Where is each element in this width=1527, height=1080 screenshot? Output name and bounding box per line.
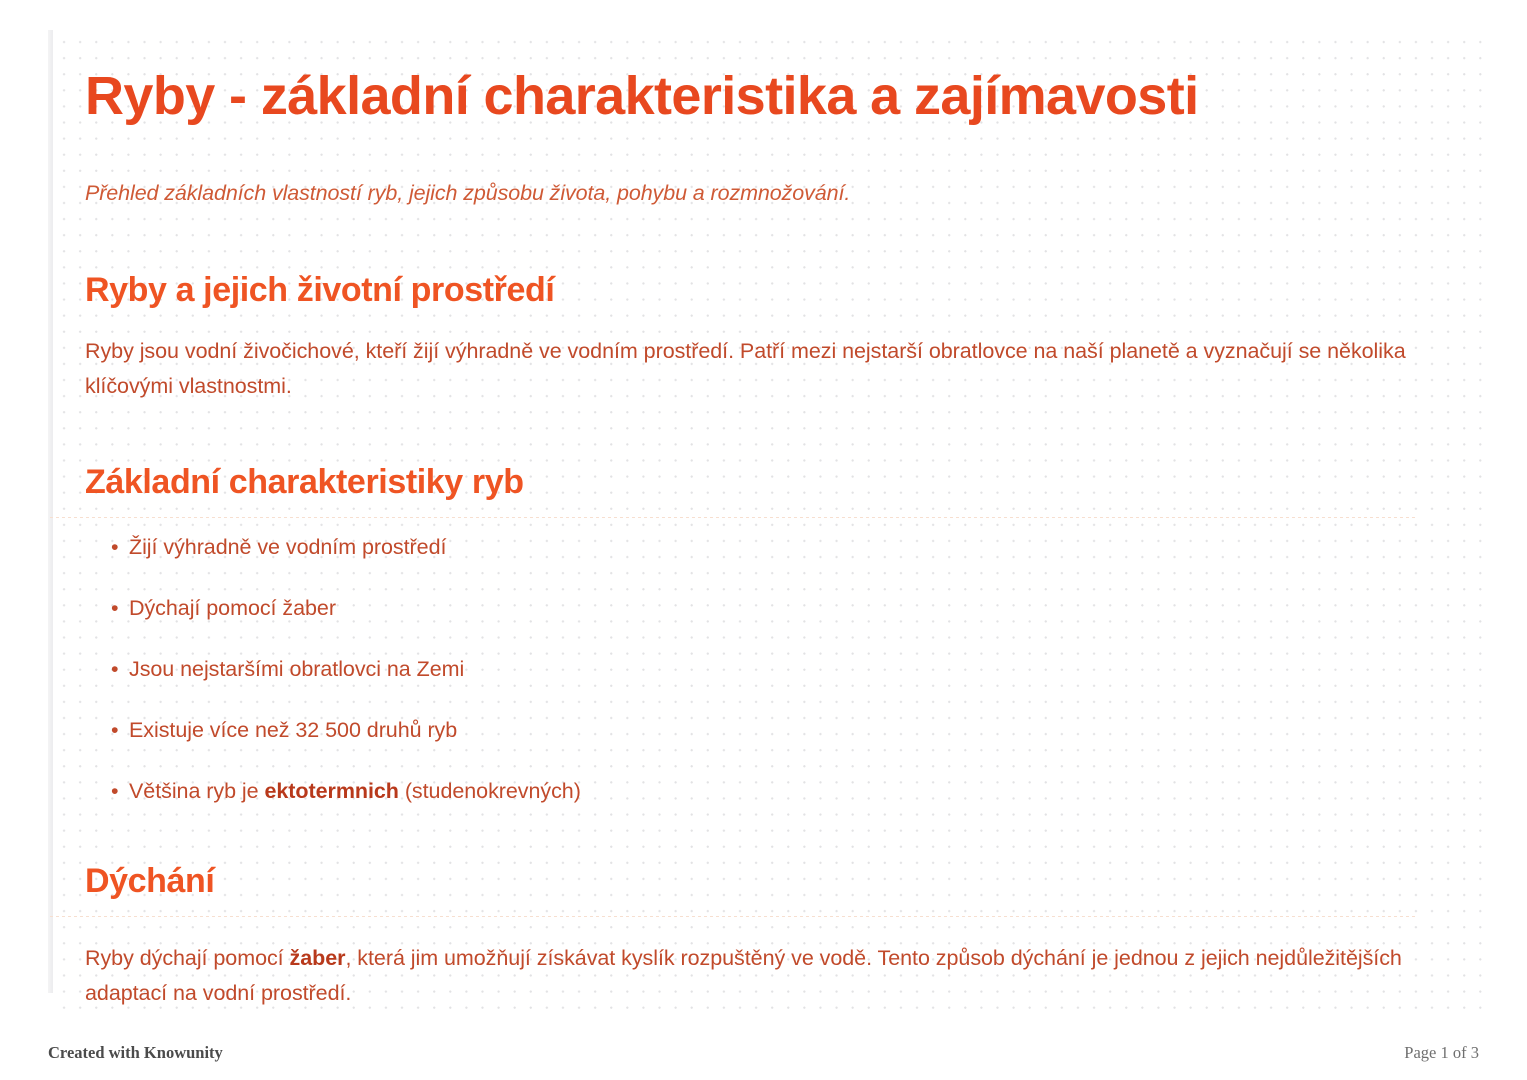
section-paragraph-environment: Ryby jsou vodní živočichové, kteří žijí … [85, 310, 1460, 404]
list-item: • Žijí výhradně ve vodním prostředí [85, 532, 1481, 562]
bullet-marker-icon: • [111, 654, 118, 684]
document-subtitle: Přehled základních vlastností ryb, jejic… [85, 128, 1481, 208]
bullet-marker-icon: • [111, 715, 118, 745]
bullet-marker-icon: • [111, 593, 118, 623]
list-item: • Jsou nejstaršími obratlovci na Zemi [85, 654, 1481, 684]
footer-page-number: Page 1 of 3 [1404, 1043, 1479, 1063]
characteristics-list: • Žijí výhradně ve vodním prostředí • Dý… [85, 518, 1481, 806]
footer-credit: Created with Knowunity [48, 1043, 223, 1063]
page-footer: Created with Knowunity Page 1 of 3 [0, 1035, 1527, 1080]
section-heading-breathing: Dýchání [85, 806, 1481, 902]
list-item-label: Existuje více než 32 500 druhů ryb [129, 718, 457, 742]
section-heading-characteristics: Základní charakteristiky ryb [85, 404, 1481, 503]
list-item: • Většina ryb je ektotermnich (studenokr… [85, 776, 1481, 806]
list-item-label-prefix: Většina ryb je [129, 779, 264, 803]
bullet-marker-icon: • [111, 532, 118, 562]
section-paragraph-breathing: Ryby dýchají pomocí žaber, která jim umo… [85, 917, 1460, 1011]
section-heading-environment: Ryby a jejich životní prostředí [85, 208, 1481, 311]
bullet-marker-icon: • [111, 776, 118, 806]
list-item: • Dýchají pomocí žaber [85, 593, 1481, 623]
section-breathing: Dýchání Ryby dýchají pomocí žaber, která… [85, 806, 1481, 1010]
document-content: Ryby - základní charakteristika a zajíma… [85, 0, 1481, 1010]
list-item-label: Jsou nejstaršími obratlovci na Zemi [129, 657, 464, 681]
paragraph-prefix: Ryby dýchají pomocí [85, 946, 290, 970]
page-title: Ryby - základní charakteristika a zajíma… [85, 0, 1481, 128]
document-page: Ryby - základní charakteristika a zajíma… [0, 0, 1527, 1080]
list-item-label-emphasis: ektotermnich [264, 779, 398, 803]
list-item: • Existuje více než 32 500 druhů ryb [85, 715, 1481, 745]
paragraph-emphasis: žaber [290, 946, 346, 970]
left-margin-rule [48, 30, 53, 993]
section-characteristics: Základní charakteristiky ryb • Žijí výhr… [85, 404, 1481, 806]
list-item-label-suffix: (studenokrevných) [399, 779, 581, 803]
section-environment: Ryby a jejich životní prostředí Ryby jso… [85, 208, 1481, 404]
list-item-label: Žijí výhradně ve vodním prostředí [129, 535, 446, 559]
list-item-label: Dýchají pomocí žaber [129, 596, 336, 620]
